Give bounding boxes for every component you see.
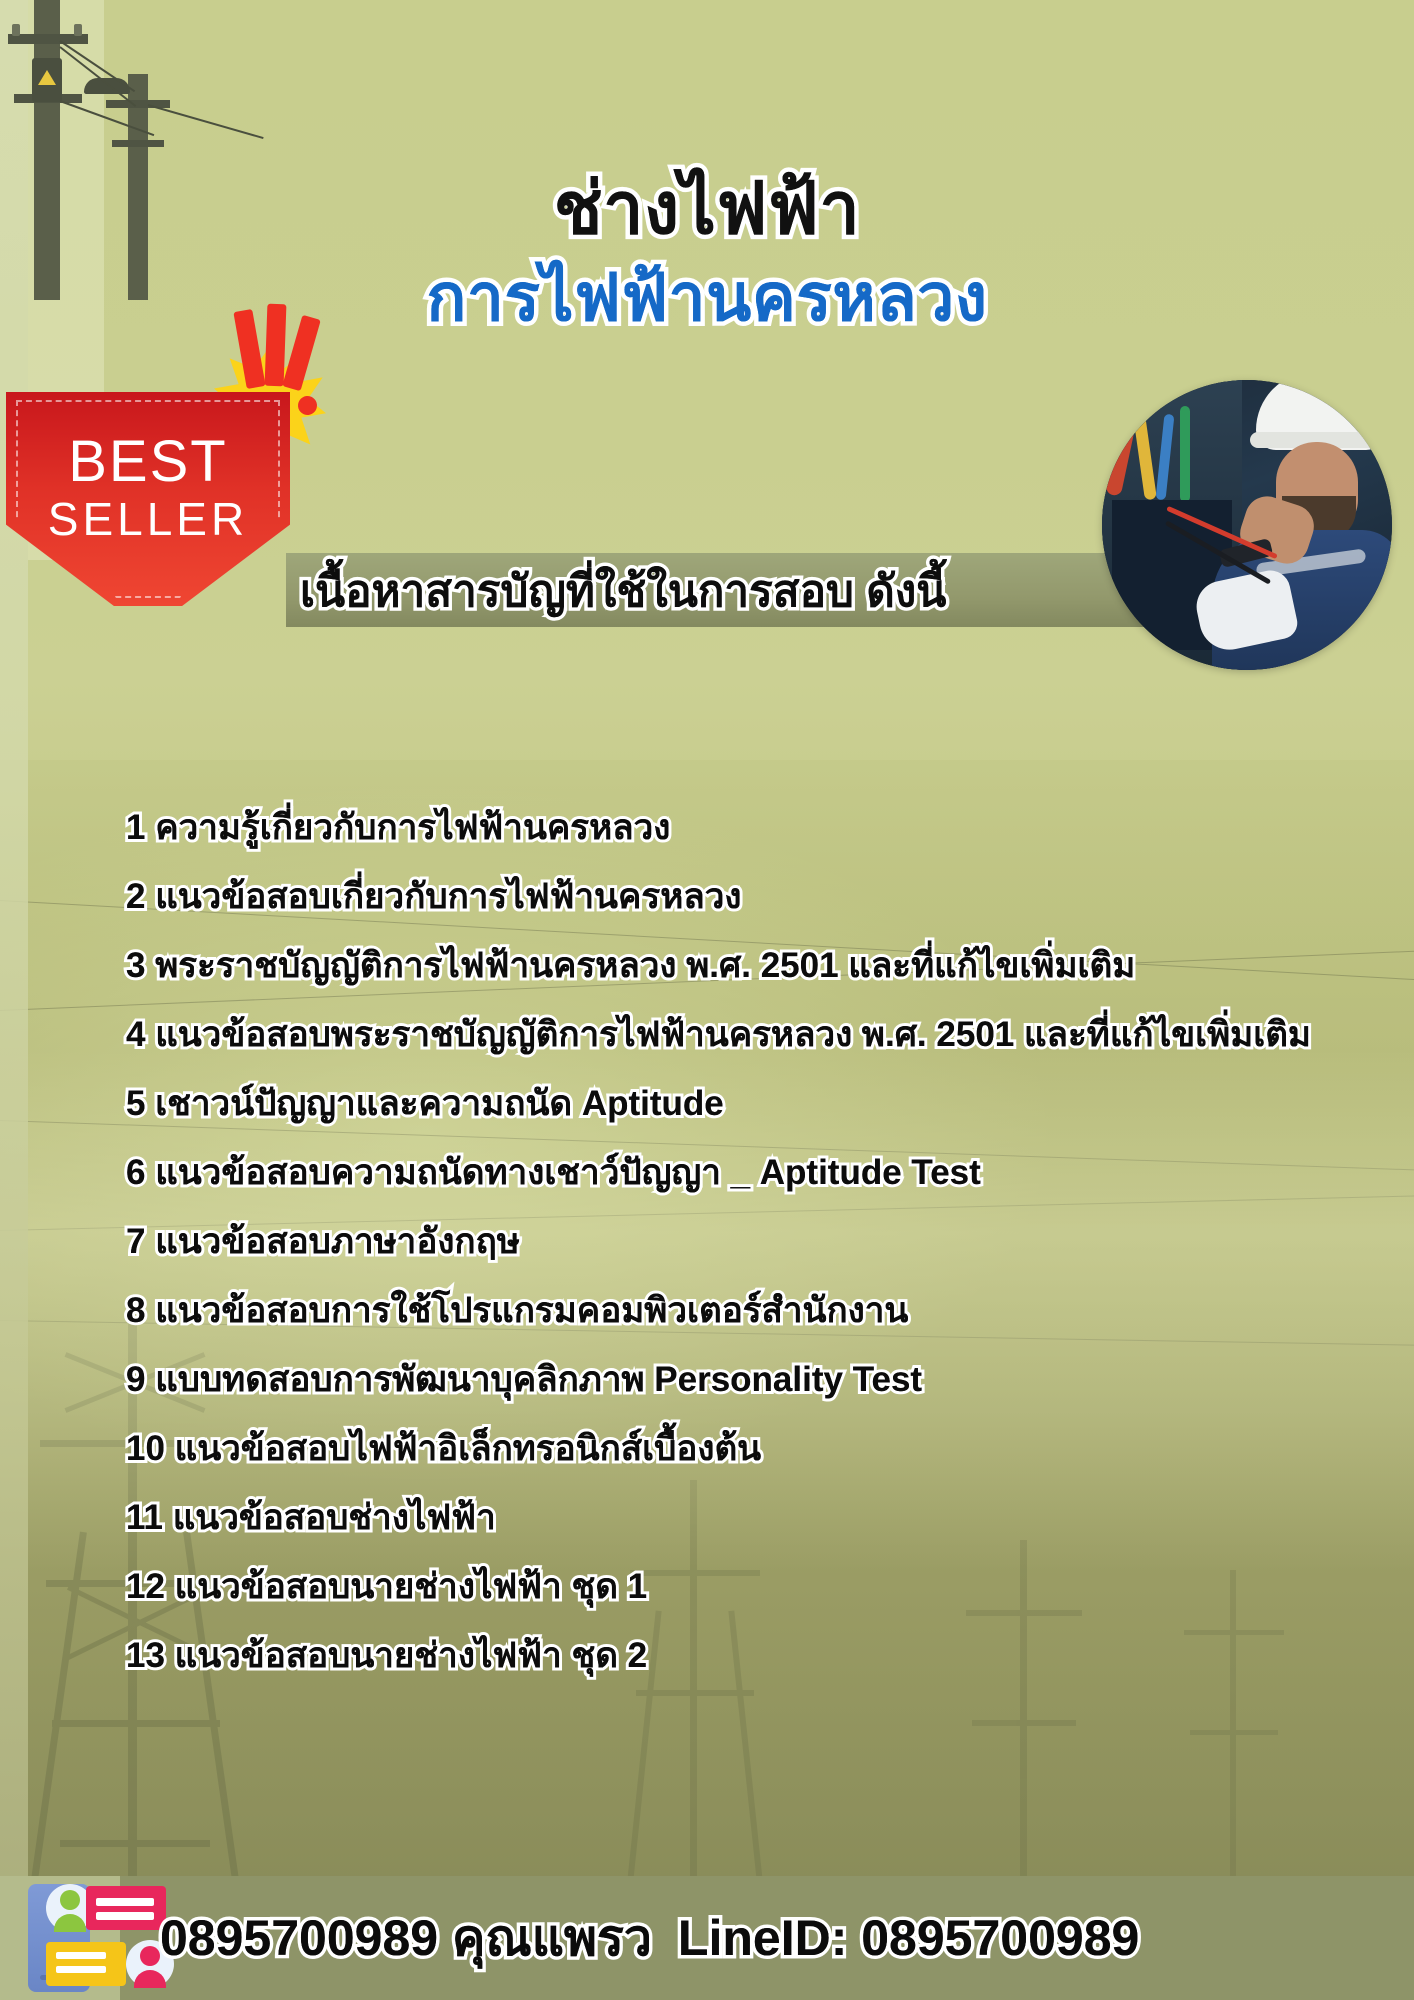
page-subtitle: การไฟฟ้านครหลวง [0,245,1414,350]
list-item: 11 แนวข้อสอบช่างไฟฟ้า11 แนวข้อสอบช่างไฟฟ… [126,1490,1366,1559]
list-item-text: 3 พระราชบัญญัติการไฟฟ้านครหลวง พ.ศ. 2501… [126,938,1135,993]
list-item: 2 แนวข้อสอบเกี่ยวกับการไฟฟ้านครหลวง2 แนว… [126,869,1366,938]
list-item: 6 แนวข้อสอบความถนัดทางเชาว์ปัญญา _ Aptit… [126,1145,1366,1214]
list-item: 10 แนวข้อสอบไฟฟ้าอิเล็กทรอนิกส์เบื้องต้น… [126,1421,1366,1490]
section-banner-text: เนื้อหาสารบัญที่ใช้ในการสอบ ดังนี้ [300,556,1220,626]
footer-bar: 0895700989 คุณแพรว LineID: 0895700989 08… [0,1876,1414,2000]
technician-photo [1102,380,1392,670]
list-item-text: 13 แนวข้อสอบนายช่างไฟฟ้า ชุด 2 [126,1628,647,1683]
list-item-text: 5 เชาวน์ปัญญาและความถนัด Aptitude [126,1076,724,1131]
list-item: 12 แนวข้อสอบนายช่างไฟฟ้า ชุด 112 แนวข้อส… [126,1559,1366,1628]
list-item: 3 พระราชบัญญัติการไฟฟ้านครหลวง พ.ศ. 2501… [126,938,1366,1007]
poster-root: ช่างไฟฟ้า ช่างไฟฟ้า การไฟฟ้านครหลวง การไ… [0,0,1414,2000]
list-item-text: 9 แบบทดสอบการพัฒนาบุคลิกภาพ Personality … [126,1352,922,1407]
list-item: 1 ความรู้เกี่ยวกับการไฟฟ้านครหลวง1 ความร… [126,800,1366,869]
list-item: 8 แนวข้อสอบการใช้โปรแกรมคอมพิวเตอร์สำนัก… [126,1283,1366,1352]
contact-entry-bottom-icon [46,1938,172,1990]
list-item: 9 แบบทดสอบการพัฒนาบุคลิกภาพ Personality … [126,1352,1366,1421]
list-item: 7 แนวข้อสอบภาษาอังกฤษ7 แนวข้อสอบภาษาอังก… [126,1214,1366,1283]
contact-entry-top-icon [46,1882,172,1934]
badge-label-best: BEST [6,428,290,495]
list-item-text: 10 แนวข้อสอบไฟฟ้าอิเล็กทรอนิกส์เบื้องต้น [126,1421,761,1476]
badge-label-seller: SELLER [6,492,290,546]
list-item-text: 8 แนวข้อสอบการใช้โปรแกรมคอมพิวเตอร์สำนัก… [126,1283,908,1338]
list-item: 13 แนวข้อสอบนายช่างไฟฟ้า ชุด 213 แนวข้อส… [126,1628,1366,1697]
list-item-text: 2 แนวข้อสอบเกี่ยวกับการไฟฟ้านครหลวง [126,869,741,924]
list-item-text: 12 แนวข้อสอบนายช่างไฟฟ้า ชุด 1 [126,1559,647,1614]
list-item-text: 1 ความรู้เกี่ยวกับการไฟฟ้านครหลวง [126,800,670,855]
list-item: 5 เชาวน์ปัญญาและความถนัด Aptitude5 เชาวน… [126,1076,1366,1145]
footer-contact: 0895700989 คุณแพรว LineID: 0895700989 [160,1898,1139,1978]
footer-lineid: LineID: 0895700989 [678,1909,1139,1967]
contents-list: 1 ความรู้เกี่ยวกับการไฟฟ้านครหลวง1 ความร… [126,800,1366,1697]
list-item-text: 11 แนวข้อสอบช่างไฟฟ้า [126,1490,496,1545]
footer-phone: 0895700989 คุณแพรว [160,1899,652,1978]
list-item-text: 7 แนวข้อสอบภาษาอังกฤษ [126,1214,520,1269]
list-item-text: 4 แนวข้อสอบพระราชบัญญัติการไฟฟ้านครหลวง … [126,1007,1311,1062]
list-item-text: 6 แนวข้อสอบความถนัดทางเชาว์ปัญญา _ Aptit… [126,1145,981,1200]
list-item: 4 แนวข้อสอบพระราชบัญญัติการไฟฟ้านครหลวง … [126,1007,1366,1076]
